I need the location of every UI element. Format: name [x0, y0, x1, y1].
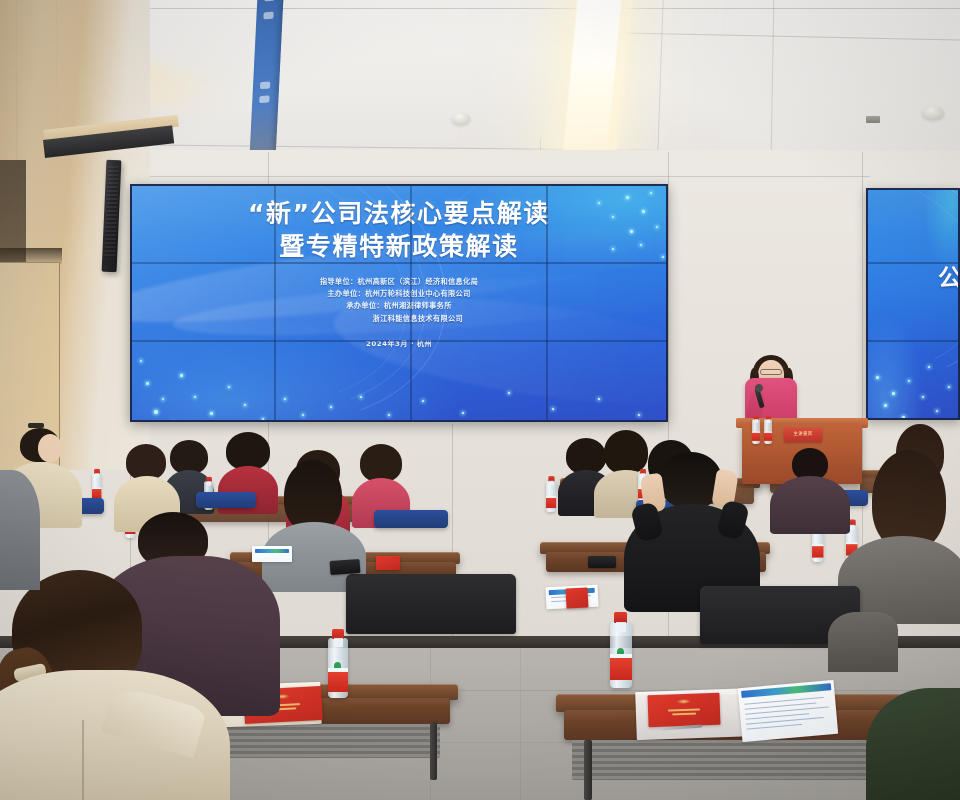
glasses-icon [760, 369, 782, 375]
chair [374, 510, 448, 528]
water-bottle [610, 622, 632, 688]
flyer [738, 680, 838, 742]
smoke-detector-icon [922, 106, 944, 119]
slide-title-line2: 暨专精特新政策解读 [132, 231, 666, 264]
flyer [252, 546, 292, 562]
smoke-detector-icon [452, 113, 470, 124]
chair [196, 492, 256, 508]
smartphone[interactable] [588, 556, 616, 568]
presentation-slide: “新”公司法核心要点解读 暨专精特新政策解读 指导单位：杭州高新区（滨江）经济和… [132, 186, 666, 420]
red-notebook [565, 587, 588, 608]
red-notebook [376, 556, 400, 570]
desk-modesty-panel [572, 740, 900, 780]
ceiling-vent-icon [866, 116, 880, 123]
podium-name-card-text: 主讲嘉宾 [784, 431, 822, 437]
slide-org-line1: 指导单位：杭州高新区（滨江）经济和信息化局 [132, 276, 666, 288]
slide-text-block: “新”公司法核心要点解读 暨专精特新政策解读 指导单位：杭州高新区（滨江）经济和… [132, 198, 666, 349]
water-bottle [546, 481, 556, 512]
chair [346, 574, 516, 634]
slide-title-line1: “新”公司法核心要点解读 [132, 198, 666, 231]
podium-name-card: 主讲嘉宾 [784, 428, 822, 442]
smartphone[interactable] [330, 559, 361, 575]
seminar-room-photo: “新”公司法核心要点解读 暨专精特新政策解读 指导单位：杭州高新区（滨江）经济和… [0, 0, 960, 800]
slide-org-line2: 主办单位：杭州万轮科技创业中心有限公司 [132, 288, 666, 300]
slide-org-line4: 浙江科能信息技术有限公司 [132, 313, 666, 325]
water-bottle [752, 419, 760, 444]
water-bottle [328, 638, 348, 698]
video-wall-screen[interactable]: “新”公司法核心要点解读 暨专精特新政策解读 指导单位：杭州高新区（滨江）经济和… [130, 184, 668, 422]
slide-org-line3: 承办单位：杭州湘湖律师事务所 [132, 300, 666, 312]
water-bottle [764, 419, 772, 444]
side-video-screen[interactable]: 公 [866, 188, 960, 420]
red-certificate [647, 693, 720, 727]
side-slide: 公 [868, 190, 958, 418]
